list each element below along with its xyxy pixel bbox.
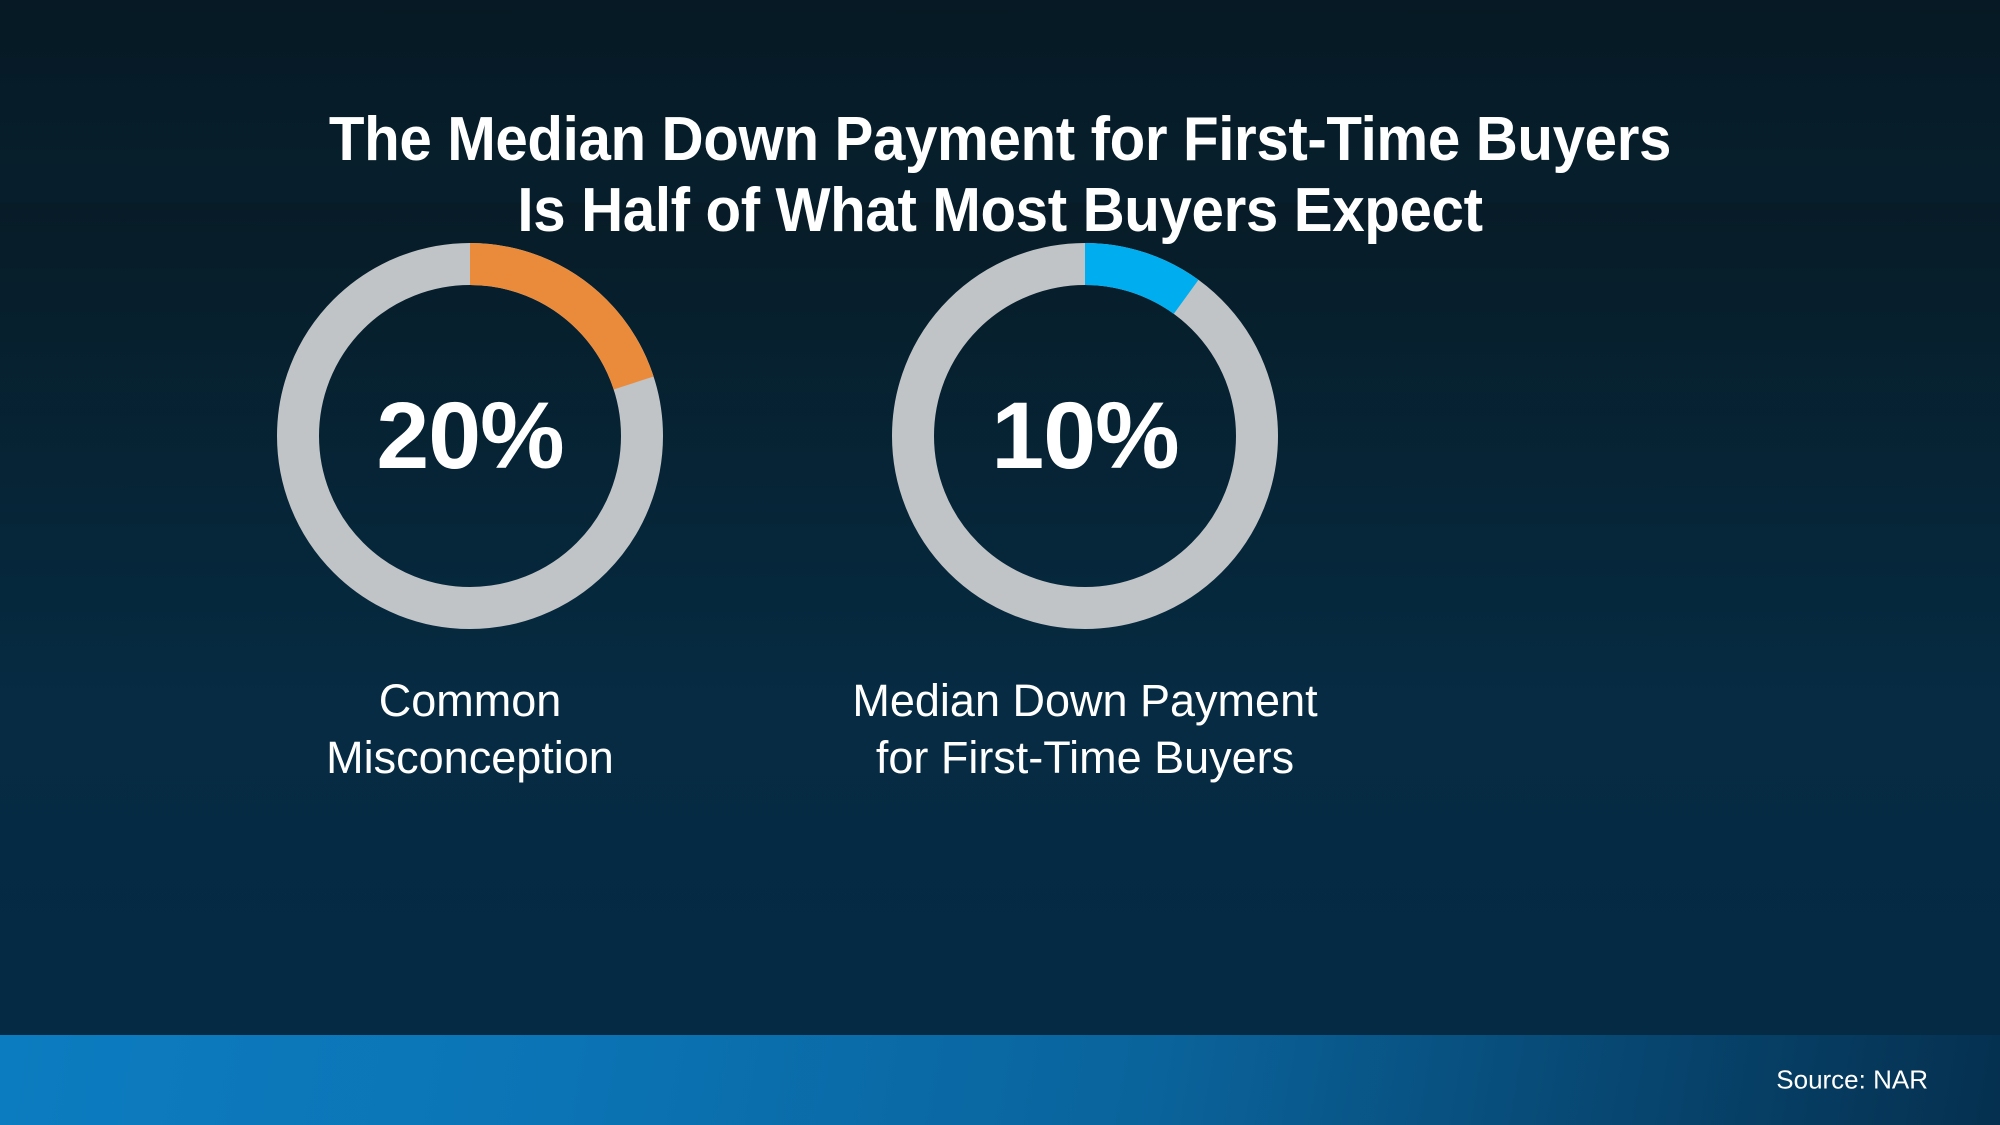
- footer-bar: Source: NAR: [0, 1035, 2000, 1125]
- donut-track-right: [913, 264, 1257, 608]
- infographic-canvas: The Median Down Payment for First-Time B…: [0, 0, 2000, 1125]
- donut-chart-20-percent: 20%: [277, 243, 663, 629]
- chart-caption-left-line-1: Common: [120, 673, 820, 730]
- donut-svg-left: [277, 243, 663, 629]
- charts-row: 20% Common Misconception 10% Median Down: [0, 243, 2000, 883]
- page-title: The Median Down Payment for First-Time B…: [60, 104, 1940, 248]
- chart-caption-left-line-2: Misconception: [120, 730, 820, 787]
- donut-svg-right: [892, 243, 1278, 629]
- title-line-2: Is Half of What Most Buyers Expect: [60, 175, 1940, 247]
- chart-common-misconception: 20% Common Misconception: [120, 243, 820, 883]
- chart-caption-right-line-1: Median Down Payment: [735, 673, 1435, 730]
- source-attribution: Source: NAR: [1776, 1065, 1928, 1096]
- chart-caption-right-line-2: for First-Time Buyers: [735, 730, 1435, 787]
- chart-caption-left: Common Misconception: [120, 673, 820, 786]
- chart-median-down-payment: 10% Median Down Payment for First-Time B…: [735, 243, 1435, 883]
- donut-chart-10-percent: 10%: [892, 243, 1278, 629]
- title-line-1: The Median Down Payment for First-Time B…: [60, 104, 1940, 176]
- chart-caption-right: Median Down Payment for First-Time Buyer…: [735, 673, 1435, 786]
